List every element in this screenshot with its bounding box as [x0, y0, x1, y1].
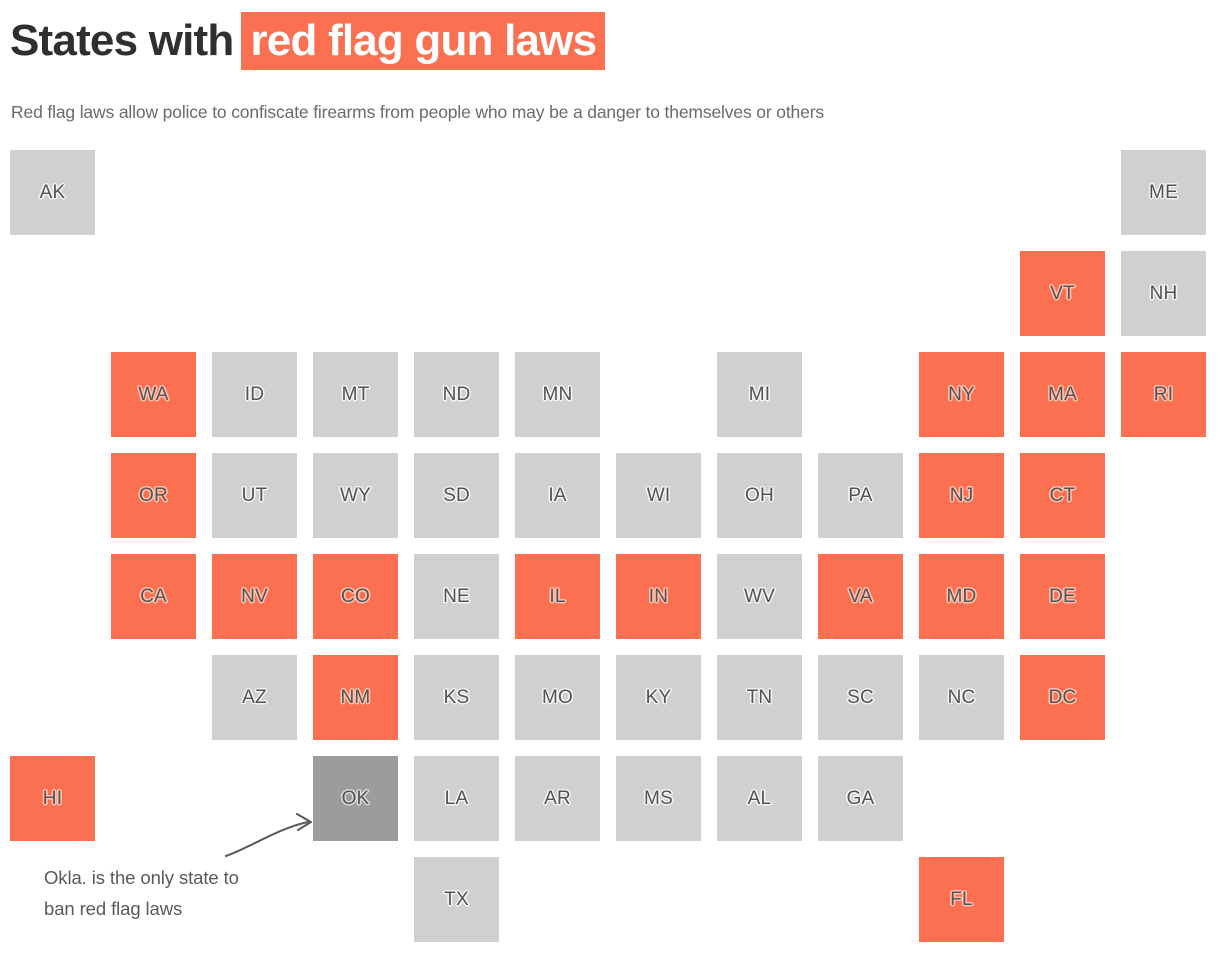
state-tile-oh[interactable]: OH — [717, 453, 802, 538]
state-tile-nj[interactable]: NJ — [919, 453, 1004, 538]
annotation-callout: Okla. is the only state to ban red flag … — [44, 862, 374, 924]
state-tile-ms[interactable]: MS — [616, 756, 701, 841]
state-tile-ks[interactable]: KS — [414, 655, 499, 740]
state-tile-label: WA — [111, 384, 196, 406]
state-tile-label: SD — [414, 485, 499, 507]
state-tile-label: AZ — [212, 687, 297, 709]
annotation-line-1: Okla. is the only state to — [44, 862, 374, 893]
state-tile-label: NV — [212, 586, 297, 608]
state-tile-va[interactable]: VA — [818, 554, 903, 639]
state-tile-label: WY — [313, 485, 398, 507]
state-tile-ak[interactable]: AK — [10, 150, 95, 235]
state-tile-wa[interactable]: WA — [111, 352, 196, 437]
state-tile-label: IL — [515, 586, 600, 608]
state-tile-mn[interactable]: MN — [515, 352, 600, 437]
state-tile-label: MO — [515, 687, 600, 709]
state-tile-pa[interactable]: PA — [818, 453, 903, 538]
state-tile-label: MT — [313, 384, 398, 406]
state-tile-label: MN — [515, 384, 600, 406]
state-tile-label: KY — [616, 687, 701, 709]
state-tile-co[interactable]: CO — [313, 554, 398, 639]
state-tile-label: TX — [414, 889, 499, 911]
state-tile-label: ME — [1121, 182, 1206, 204]
state-tile-fl[interactable]: FL — [919, 857, 1004, 942]
state-tile-label: OH — [717, 485, 802, 507]
state-tile-md[interactable]: MD — [919, 554, 1004, 639]
state-tile-nh[interactable]: NH — [1121, 251, 1206, 336]
state-tile-mi[interactable]: MI — [717, 352, 802, 437]
state-tile-nd[interactable]: ND — [414, 352, 499, 437]
state-tile-label: FL — [919, 889, 1004, 911]
state-tile-label: TN — [717, 687, 802, 709]
state-tile-label: WV — [717, 586, 802, 608]
state-tile-label: OK — [313, 788, 398, 810]
state-tile-ca[interactable]: CA — [111, 554, 196, 639]
state-tile-label: CT — [1020, 485, 1105, 507]
state-tile-label: ND — [414, 384, 499, 406]
state-tile-label: AK — [10, 182, 95, 204]
state-tile-label: MA — [1020, 384, 1105, 406]
state-tile-nc[interactable]: NC — [919, 655, 1004, 740]
state-tile-label: MS — [616, 788, 701, 810]
state-tile-label: SC — [818, 687, 903, 709]
state-tile-label: AR — [515, 788, 600, 810]
state-tile-label: GA — [818, 788, 903, 810]
state-tile-wy[interactable]: WY — [313, 453, 398, 538]
state-tile-tn[interactable]: TN — [717, 655, 802, 740]
state-tile-ar[interactable]: AR — [515, 756, 600, 841]
state-tile-label: UT — [212, 485, 297, 507]
state-tile-mo[interactable]: MO — [515, 655, 600, 740]
state-tile-wi[interactable]: WI — [616, 453, 701, 538]
state-tile-mt[interactable]: MT — [313, 352, 398, 437]
state-tile-dc[interactable]: DC — [1020, 655, 1105, 740]
state-tile-label: NM — [313, 687, 398, 709]
state-tile-me[interactable]: ME — [1121, 150, 1206, 235]
state-tile-ct[interactable]: CT — [1020, 453, 1105, 538]
state-tile-nv[interactable]: NV — [212, 554, 297, 639]
state-tile-label: AL — [717, 788, 802, 810]
state-tile-label: OR — [111, 485, 196, 507]
state-tile-label: VA — [818, 586, 903, 608]
state-tile-ne[interactable]: NE — [414, 554, 499, 639]
state-tile-ny[interactable]: NY — [919, 352, 1004, 437]
state-tile-label: NE — [414, 586, 499, 608]
state-tile-wv[interactable]: WV — [717, 554, 802, 639]
state-tile-label: MI — [717, 384, 802, 406]
state-tile-sc[interactable]: SC — [818, 655, 903, 740]
state-tile-or[interactable]: OR — [111, 453, 196, 538]
state-tile-label: CA — [111, 586, 196, 608]
state-tile-label: PA — [818, 485, 903, 507]
state-tile-label: CO — [313, 586, 398, 608]
state-tile-label: WI — [616, 485, 701, 507]
state-tile-label: HI — [10, 788, 95, 810]
state-tile-label: ID — [212, 384, 297, 406]
state-tile-label: IN — [616, 586, 701, 608]
state-tile-nm[interactable]: NM — [313, 655, 398, 740]
state-tile-label: NC — [919, 687, 1004, 709]
curved-arrow-icon — [205, 808, 335, 870]
state-tile-al[interactable]: AL — [717, 756, 802, 841]
state-tile-ky[interactable]: KY — [616, 655, 701, 740]
state-tile-label: DE — [1020, 586, 1105, 608]
state-tile-vt[interactable]: VT — [1020, 251, 1105, 336]
state-tile-label: IA — [515, 485, 600, 507]
state-tile-label: KS — [414, 687, 499, 709]
state-tile-ia[interactable]: IA — [515, 453, 600, 538]
state-tile-az[interactable]: AZ — [212, 655, 297, 740]
state-tile-la[interactable]: LA — [414, 756, 499, 841]
state-tile-label: NY — [919, 384, 1004, 406]
state-tile-sd[interactable]: SD — [414, 453, 499, 538]
state-tile-in[interactable]: IN — [616, 554, 701, 639]
state-tile-ma[interactable]: MA — [1020, 352, 1105, 437]
state-tile-de[interactable]: DE — [1020, 554, 1105, 639]
state-tile-label: RI — [1121, 384, 1206, 406]
state-tile-il[interactable]: IL — [515, 554, 600, 639]
state-tile-tx[interactable]: TX — [414, 857, 499, 942]
state-tile-ut[interactable]: UT — [212, 453, 297, 538]
state-tile-label: NJ — [919, 485, 1004, 507]
annotation-line-2: ban red flag laws — [44, 893, 374, 924]
state-tile-hi[interactable]: HI — [10, 756, 95, 841]
state-tile-ri[interactable]: RI — [1121, 352, 1206, 437]
state-tile-ga[interactable]: GA — [818, 756, 903, 841]
state-tile-label: DC — [1020, 687, 1105, 709]
state-tile-label: VT — [1020, 283, 1105, 305]
state-grid-map: AKMEVTNHWAIDMTNDMNMINYMARIORUTWYSDIAWIOH… — [0, 0, 1220, 956]
state-tile-label: MD — [919, 586, 1004, 608]
state-tile-id[interactable]: ID — [212, 352, 297, 437]
state-tile-label: LA — [414, 788, 499, 810]
state-tile-label: NH — [1121, 283, 1206, 305]
